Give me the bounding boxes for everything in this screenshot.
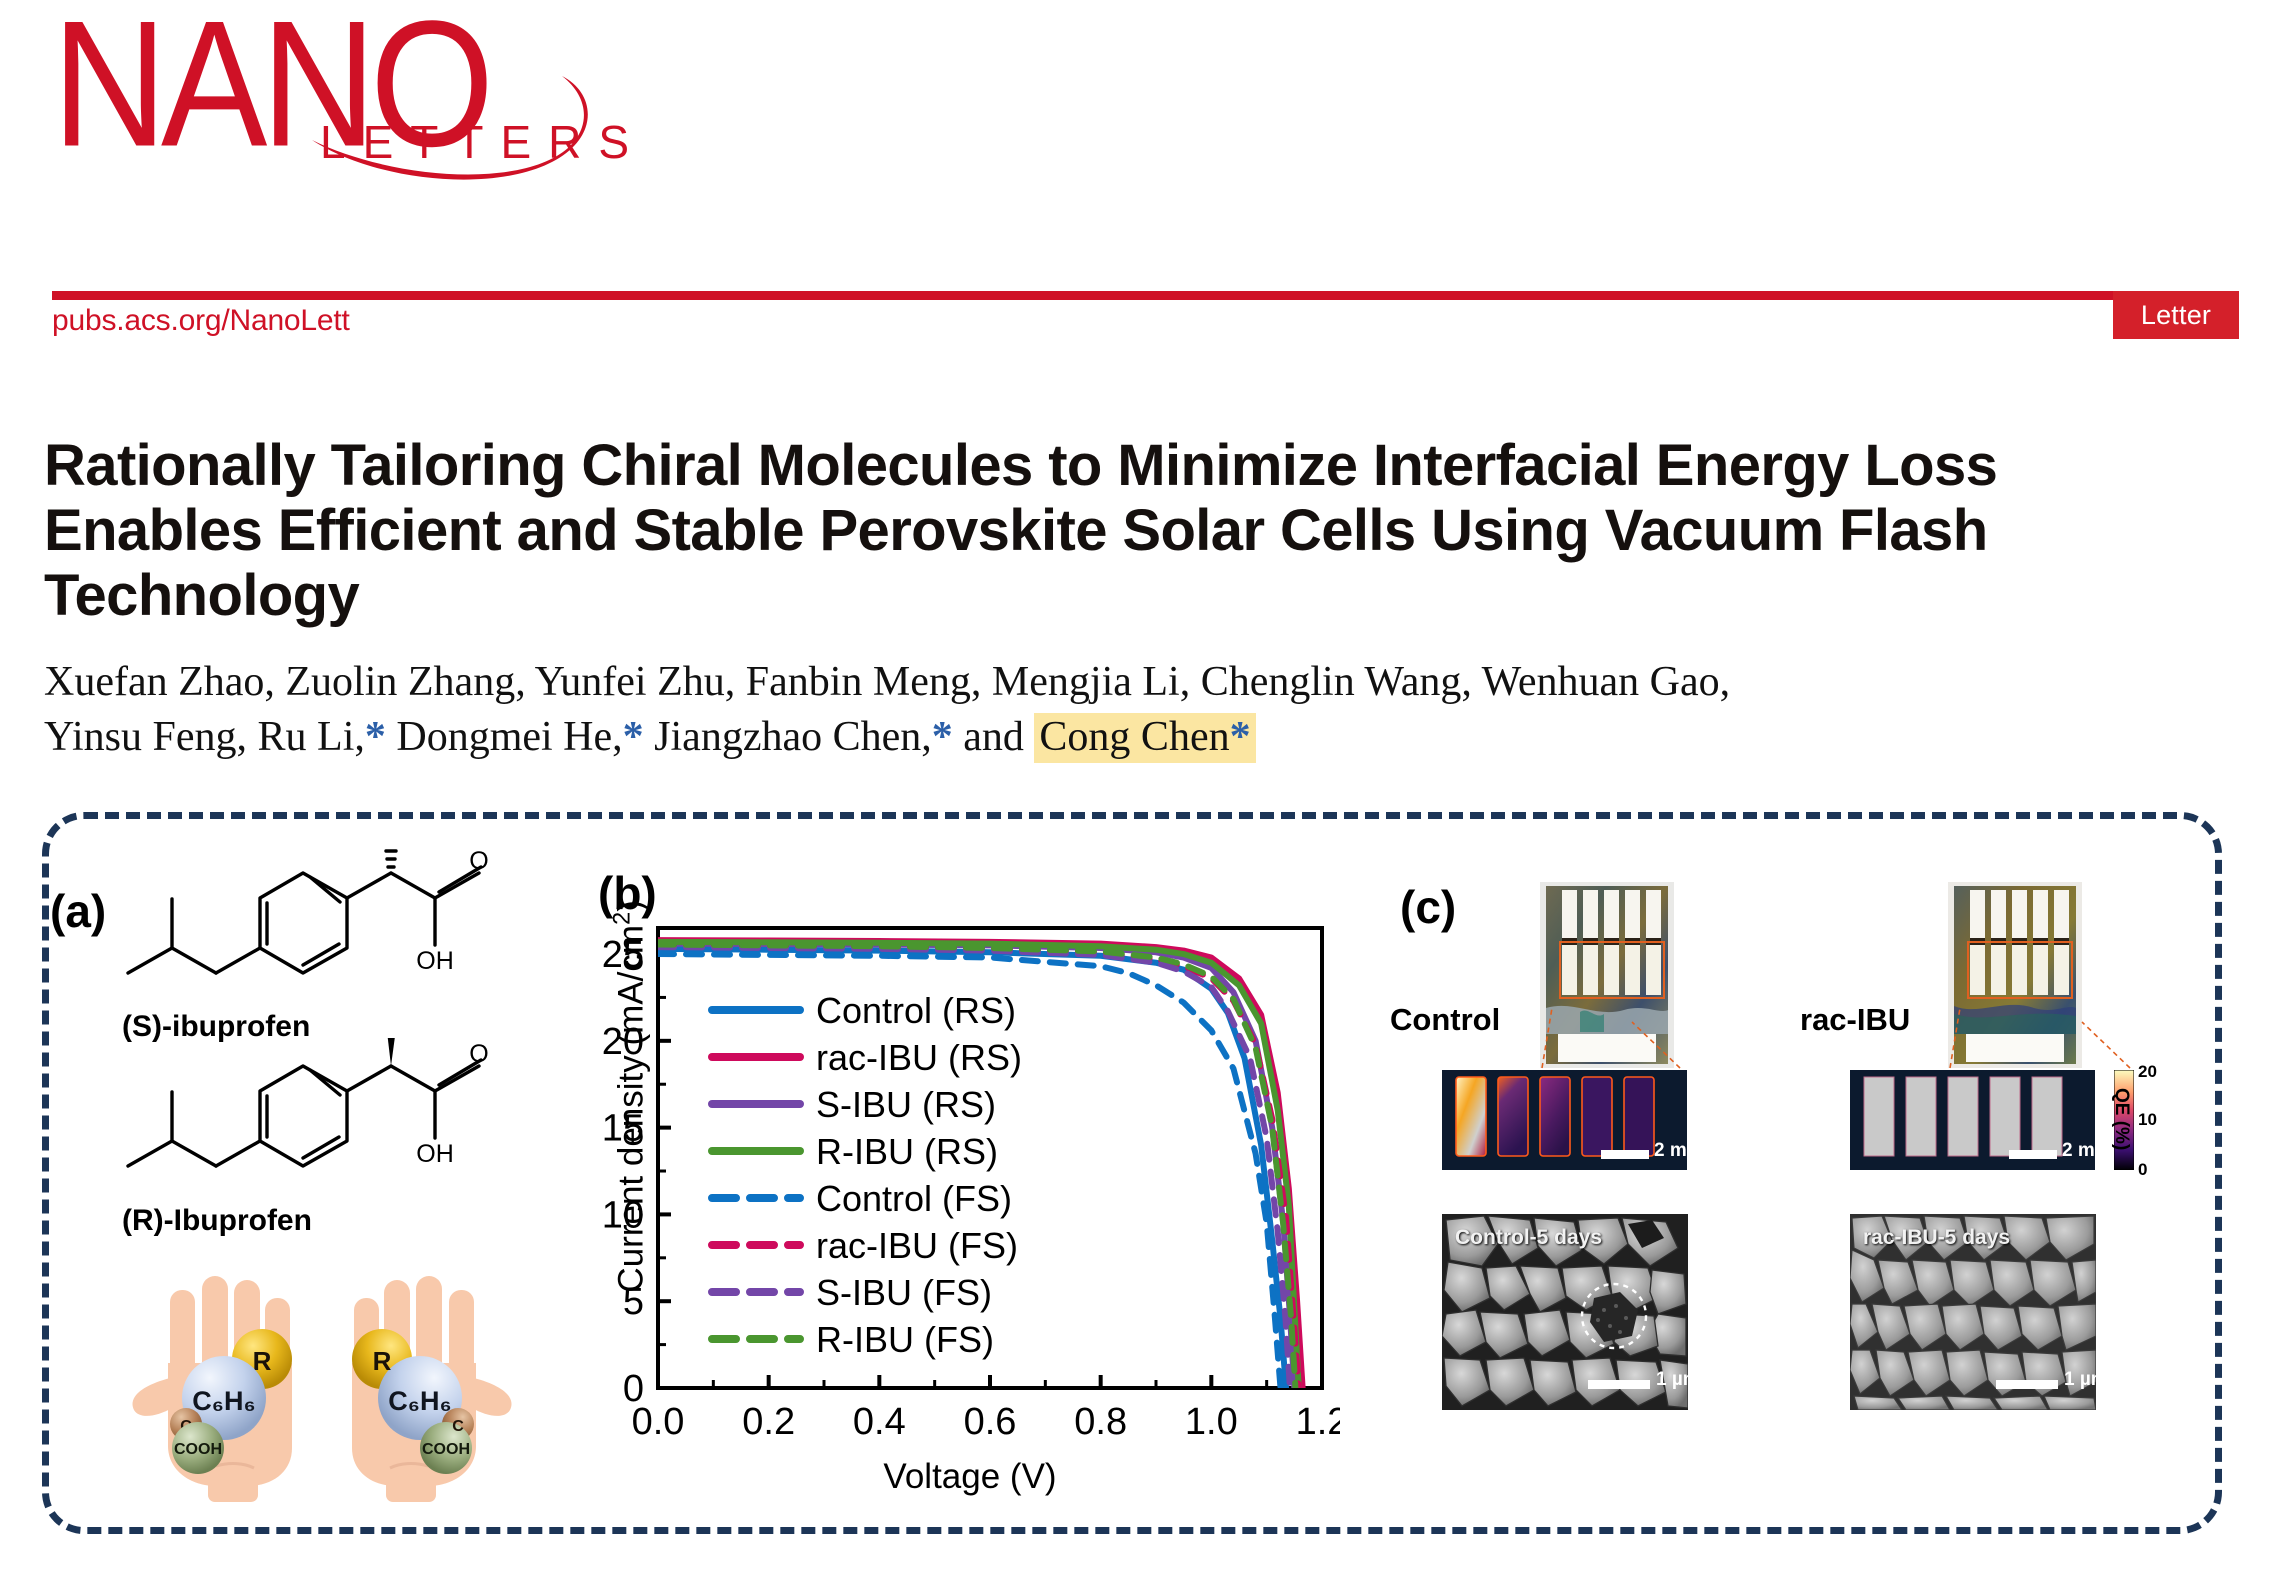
- legend-label-5: rac-IBU (FS): [816, 1225, 1018, 1266]
- carbonyl-oxygen-label: O: [469, 847, 488, 875]
- x-tick-label: 1.0: [1185, 1401, 1238, 1443]
- benzene-label: C₆H₆: [388, 1386, 452, 1416]
- highlighted-author-name: Cong Chen: [1039, 714, 1229, 760]
- x-tick-label: 0.2: [742, 1401, 795, 1443]
- hydroxyl-label: OH: [416, 947, 454, 975]
- y-axis-label: Current density (mA/cm2): [609, 896, 652, 1296]
- cooh-label: COOH: [174, 1441, 222, 1458]
- r-ibuprofen-name: (R)-Ibuprofen: [122, 1204, 312, 1238]
- x-axis-label: Voltage (V): [640, 1457, 1300, 1497]
- carbon-label: C: [452, 1418, 464, 1435]
- legend-label-2: S-IBU (RS): [816, 1084, 996, 1125]
- chiral-hands-illustration: R C₆H₆ C COOH R C₆H₆ C COOH: [112, 1258, 532, 1518]
- corresponding-star-3: *: [932, 714, 953, 760]
- jv-chart-svg: 0.00.20.40.60.81.01.20510152025Control (…: [580, 860, 1340, 1520]
- authors-segment-a: Yinsu Feng, Ru Li,: [44, 714, 365, 760]
- legend-label-1: rac-IBU (RS): [816, 1037, 1022, 1078]
- author-list: Xuefan Zhao, Zuolin Zhang, Yunfei Zhu, F…: [44, 655, 2174, 764]
- scalebar-qe-racibu-text: 2 mm: [2062, 1140, 2112, 1162]
- logo-word-letters: LETTERS: [320, 116, 646, 168]
- colorbar-tick-20: 20: [2138, 1062, 2157, 1082]
- scalebar-sem-racibu: [1996, 1380, 2058, 1389]
- highlighted-author: Cong Chen*: [1034, 713, 1255, 763]
- x-tick-label: 1.2: [1296, 1401, 1340, 1443]
- hydroxyl-label: OH: [416, 1140, 454, 1168]
- jv-chart: 0.00.20.40.60.81.01.20510152025Control (…: [580, 860, 1340, 1520]
- colorbar-tick-10: 10: [2138, 1110, 2157, 1130]
- r-group-label: R: [373, 1346, 392, 1376]
- nano-letters-logo: NANO LETTERS: [52, 18, 832, 218]
- colorbar-title: QE (%): [2110, 1088, 2132, 1150]
- authors-segment-c: Jiangzhao Chen,: [644, 714, 932, 760]
- x-tick-label: 0.8: [1074, 1401, 1127, 1443]
- authors-segment-b: Dongmei He,: [386, 714, 623, 760]
- legend-label-6: S-IBU (FS): [816, 1272, 992, 1313]
- scalebar-qe-racibu: [2009, 1150, 2057, 1159]
- carbonyl-oxygen-label: O: [469, 1040, 488, 1068]
- s-ibuprofen-structure: O OH: [110, 845, 560, 1020]
- colorbar-tick-0: 0: [2138, 1160, 2147, 1180]
- qe-map-control: [1442, 1070, 1687, 1170]
- author-line-2: Yinsu Feng, Ru Li,* Dongmei He,* Jiangzh…: [44, 710, 2174, 765]
- header-rule: [52, 291, 2172, 300]
- r-ibuprofen-structure: O OH: [110, 1038, 560, 1213]
- scalebar-sem-control-text: 1 µm: [1656, 1369, 1700, 1391]
- corresponding-star-4: *: [1230, 714, 1251, 760]
- hash-wedge-stereobond: [385, 845, 397, 867]
- qe-map-racibu: [1850, 1070, 2095, 1170]
- legend-label-7: R-IBU (FS): [816, 1319, 994, 1360]
- scalebar-qe-control-text: 2 mm: [1654, 1140, 1704, 1162]
- author-line-1: Xuefan Zhao, Zuolin Zhang, Yunfei Zhu, F…: [44, 655, 2174, 710]
- corresponding-star-1: *: [365, 714, 386, 760]
- corresponding-star-2: *: [623, 714, 644, 760]
- x-tick-label: 0.4: [853, 1401, 906, 1443]
- article-type-badge: Letter: [2113, 291, 2239, 339]
- x-tick-label: 0.6: [964, 1401, 1017, 1443]
- cooh-label: COOH: [422, 1441, 470, 1458]
- journal-url[interactable]: pubs.acs.org/NanoLett: [52, 304, 350, 338]
- sem-caption-control: Control-5 days: [1455, 1226, 1602, 1250]
- panel-c-label: (c): [1400, 880, 1456, 934]
- y-tick-label: 0: [623, 1368, 644, 1410]
- sem-caption-racibu: rac-IBU-5 days: [1863, 1226, 2010, 1250]
- page-title: Rationally Tailoring Chiral Molecules to…: [44, 434, 2224, 629]
- authors-segment-and: and: [953, 714, 1035, 760]
- legend-label-3: R-IBU (RS): [816, 1131, 998, 1172]
- benzene-label: C₆H₆: [192, 1386, 256, 1416]
- scalebar-sem-racibu-text: 1 µm: [2064, 1369, 2108, 1391]
- journal-masthead: NANO LETTERS: [52, 18, 832, 218]
- panel-a-label: (a): [50, 884, 106, 938]
- legend-label-4: Control (FS): [816, 1178, 1012, 1219]
- scalebar-sem-control: [1588, 1380, 1650, 1389]
- scalebar-qe-control: [1601, 1150, 1649, 1159]
- left-hand: R C₆H₆ C COOH: [133, 1276, 293, 1502]
- solid-wedge-stereobond: [385, 1038, 398, 1066]
- legend-label-0: Control (RS): [816, 990, 1016, 1031]
